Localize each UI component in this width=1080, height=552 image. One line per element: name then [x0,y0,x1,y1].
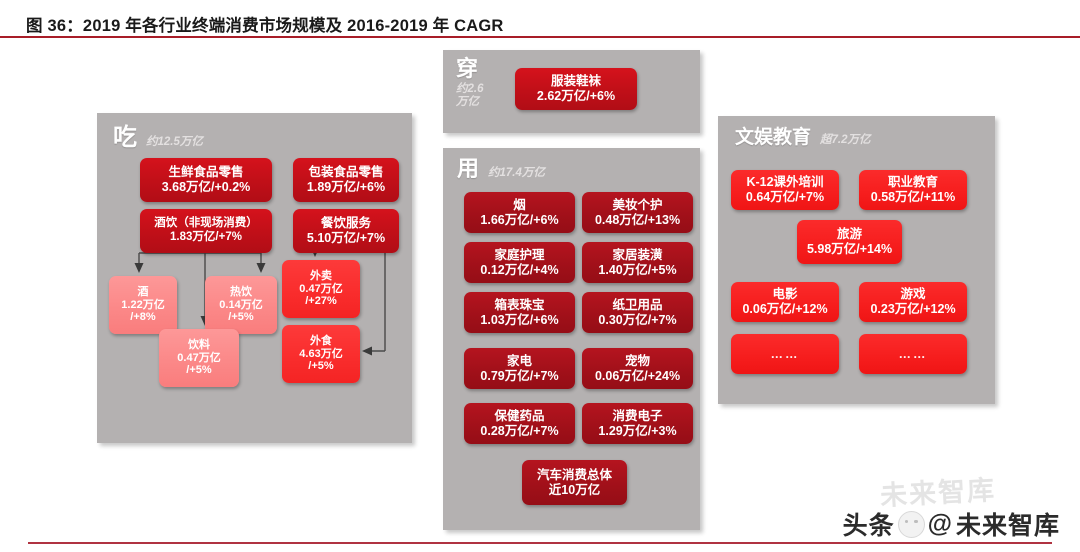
panel-yong: 用 约17.4万亿 烟 1.66万亿/+6% 美妆个护 0.48万亿/+13% … [443,148,700,530]
panel-chi-title: 吃 [113,126,137,150]
box-label-line1: 保健药品 [494,409,544,424]
box-label-line1: 旅游 [837,227,862,242]
box-consumer-electronics[interactable]: 消费电子 1.29万亿/+3% [582,403,693,444]
box-k12-tutoring[interactable]: K-12课外培训 0.64万亿/+7% [731,170,839,210]
box-label-line2: 0.79万亿/+7% [480,369,558,384]
box-label-line1: 宠物 [625,354,650,369]
box-label-line3: /+8% [130,311,155,324]
watermark-right-text: 未来智库 [956,506,1060,542]
box-label-line2: 0.47万亿 [299,283,342,296]
box-label-line2: 1.40万亿/+5% [598,263,676,278]
box-pets[interactable]: 宠物 0.06万亿/+24% [582,348,693,389]
box-label-line1: 箱表珠宝 [494,298,544,313]
ellipsis-label: …… [899,347,928,362]
box-label-line2: 2.62万亿/+6% [537,89,615,104]
box-dining-out[interactable]: 外食 4.63万亿 /+5% [282,325,360,383]
panel-yong-header: 用 约17.4万亿 [457,158,545,180]
panel-wenyu-header: 文娱教育 超7.2万亿 [735,128,871,147]
box-label-line3: /+27% [305,295,337,308]
box-label-line2: 1.83万亿/+7% [170,231,242,245]
box-label-line2: 0.28万亿/+7% [480,424,558,439]
box-label-line1: 电影 [772,287,797,302]
box-label-line1: 热饮 [230,286,252,299]
box-label-line1: 纸卫用品 [612,298,662,313]
box-home-decoration[interactable]: 家居装潢 1.40万亿/+5% [582,242,693,283]
box-label-line1: 餐饮服务 [321,216,371,231]
box-auto-consumption-total[interactable]: 汽车消费总体 近10万亿 [522,460,627,505]
panel-chi: 吃 约12.5万亿 生鲜食品零售 3.68万亿/+0.2% 包装食品零售 [97,113,412,443]
smiley-face-icon [898,511,925,538]
box-liquor[interactable]: 酒 1.22万亿 /+8% [109,276,177,334]
box-label-line2: 4.63万亿 [299,348,342,361]
box-label-line3: /+5% [308,360,333,373]
panel-chi-header: 吃 约12.5万亿 [113,126,203,150]
box-label-line1: 包装食品零售 [308,165,383,180]
box-healthcare-medicine[interactable]: 保健药品 0.28万亿/+7% [464,403,575,444]
box-label-line2: 1.89万亿/+6% [307,180,385,195]
box-label-line2: 近10万亿 [549,483,600,498]
box-beverages[interactable]: 饮料 0.47万亿 /+5% [159,329,239,387]
box-label-line2: 1.22万亿 [121,299,164,312]
box-vocational-education[interactable]: 职业教育 0.58万亿/+11% [859,170,967,210]
box-takeout[interactable]: 外卖 0.47万亿 /+27% [282,260,360,318]
box-more-placeholder-1[interactable]: …… [731,334,839,374]
box-label-line2: 0.06万亿/+24% [595,369,680,384]
panel-chuan-subtitle: 约2.6 万亿 [456,83,484,109]
box-label-line1: 生鲜食品零售 [168,165,243,180]
box-apparel-footwear[interactable]: 服装鞋袜 2.62万亿/+6% [515,68,637,110]
box-label-line2: 0.06万亿/+12% [742,302,827,317]
box-label-line1: 家居装潢 [612,248,662,263]
box-label-line2: 0.12万亿/+4% [480,263,558,278]
panel-yong-subtitle: 约17.4万亿 [488,167,545,180]
box-fresh-food-retail[interactable]: 生鲜食品零售 3.68万亿/+0.2% [140,158,272,202]
diagram-canvas: 吃 约12.5万亿 生鲜食品零售 3.68万亿/+0.2% 包装食品零售 [0,40,1080,544]
box-label-line1: 职业教育 [888,175,938,190]
box-label-line2: 0.64万亿/+7% [746,190,824,205]
box-label-line2: 1.66万亿/+6% [480,213,558,228]
box-catering-service[interactable]: 餐饮服务 5.10万亿/+7% [293,209,399,253]
box-label-line2: 0.30万亿/+7% [598,313,676,328]
box-home-appliances[interactable]: 家电 0.79万亿/+7% [464,348,575,389]
panel-wenyu-subtitle: 超7.2万亿 [820,134,871,147]
box-label-line2: 0.47万亿 [177,352,220,365]
box-label-line3: /+5% [186,364,211,377]
box-label-line1: 汽车消费总体 [537,468,612,483]
panel-chuan-title: 穿 [456,58,478,80]
figure-header: 图 36：2019 年各行业终端消费市场规模及 2016-2019 年 CAGR [26,12,1054,36]
box-label-line1: 酒 [138,286,149,299]
box-label-line1: 家电 [507,354,532,369]
panel-wenyu: 文娱教育 超7.2万亿 K-12课外培训 0.64万亿/+7% 职业教育 0.5… [718,116,995,404]
box-movies[interactable]: 电影 0.06万亿/+12% [731,282,839,322]
watermark-at-symbol: @ [928,510,953,539]
box-label-line2: 5.10万亿/+7% [307,231,385,246]
box-tobacco[interactable]: 烟 1.66万亿/+6% [464,192,575,233]
box-games[interactable]: 游戏 0.23万亿/+12% [859,282,967,322]
panel-chuan: 穿 约2.6 万亿 服装鞋袜 2.62万亿/+6% [443,50,700,133]
box-label-line1: 饮料 [188,339,210,352]
box-label-line1: K-12课外培训 [746,175,823,190]
ellipsis-label: …… [771,347,800,362]
box-label-line2: 0.58万亿/+11% [871,190,955,205]
box-label-line2: 1.29万亿/+3% [598,424,676,439]
box-label-line1: 家庭护理 [494,248,544,263]
box-packaged-food-retail[interactable]: 包装食品零售 1.89万亿/+6% [293,158,399,202]
page-title: 图 36：2019 年各行业终端消费市场规模及 2016-2019 年 CAGR [26,12,1054,36]
box-label-line2: 3.68万亿/+0.2% [162,180,251,195]
box-paper-hygiene-products[interactable]: 纸卫用品 0.30万亿/+7% [582,292,693,333]
watermark-left-text: 头条 [843,506,895,542]
box-label-line1: 消费电子 [612,409,662,424]
box-label-line2: 5.98万亿/+14% [807,242,892,257]
box-label-line1: 烟 [513,198,526,213]
box-home-care[interactable]: 家庭护理 0.12万亿/+4% [464,242,575,283]
watermark-main: 头条 @ 未来智库 [843,506,1060,542]
box-label-line1: 美妆个护 [612,198,662,213]
panel-chi-subtitle: 约12.5万亿 [146,136,203,149]
box-beauty-personal-care[interactable]: 美妆个护 0.48万亿/+13% [582,192,693,233]
panel-wenyu-title: 文娱教育 [735,128,811,147]
box-tourism[interactable]: 旅游 5.98万亿/+14% [797,220,902,264]
box-label-line1: 游戏 [900,287,925,302]
box-label-line3: /+5% [228,311,253,324]
box-label-line2: 0.48万亿/+13% [595,213,680,228]
box-label-line2: 0.14万亿 [219,299,262,312]
box-hot-drinks[interactable]: 热饮 0.14万亿 /+5% [205,276,277,334]
box-label-line1: 外卖 [310,270,332,283]
box-alcohol-beverage-offpremise[interactable]: 酒饮（非现场消费） 1.83万亿/+7% [140,209,272,253]
box-luggage-watch-jewelry[interactable]: 箱表珠宝 1.03万亿/+6% [464,292,575,333]
panel-yong-title: 用 [457,158,479,180]
box-label-line2: 0.23万亿/+12% [870,302,955,317]
box-label-line1: 服装鞋袜 [551,74,601,89]
box-more-placeholder-2[interactable]: …… [859,334,967,374]
box-label-line1: 酒饮（非现场消费） [154,217,258,231]
box-label-line2: 1.03万亿/+6% [480,313,558,328]
panel-chuan-header: 穿 约2.6 万亿 [456,58,484,109]
header-rule [0,36,1080,38]
box-label-line1: 外食 [310,335,332,348]
